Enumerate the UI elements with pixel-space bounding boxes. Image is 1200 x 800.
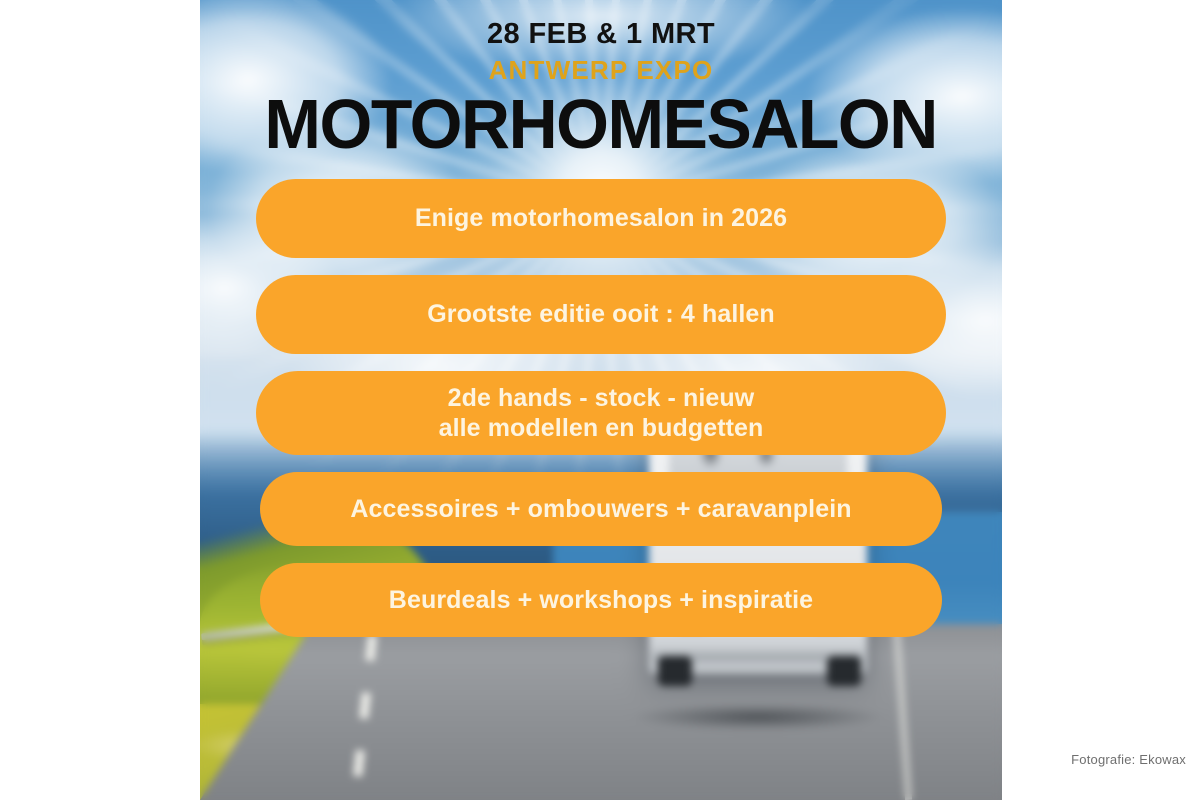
- feature-pill-line1: 2de hands - stock - nieuw: [448, 383, 755, 414]
- event-venue: ANTWERP EXPO: [489, 57, 714, 83]
- photographer-credit: Fotografie: Ekowax: [1071, 752, 1186, 767]
- feature-pill: Enige motorhomesalon in 2026: [256, 179, 946, 258]
- poster-content: 28 FEB & 1 MRT ANTWERP EXPO MOTORHOMESAL…: [200, 0, 1002, 800]
- event-date: 28 FEB & 1 MRT: [487, 20, 715, 49]
- feature-pill-line1: Accessoires + ombouwers + caravanplein: [350, 494, 851, 525]
- feature-pill: Beurdeals + workshops + inspiratie: [260, 563, 942, 637]
- feature-pill-list: Enige motorhomesalon in 2026 Grootste ed…: [200, 179, 1002, 637]
- promo-poster-image: 28 FEB & 1 MRT ANTWERP EXPO MOTORHOMESAL…: [200, 0, 1002, 800]
- feature-pill: Grootste editie ooit : 4 hallen: [256, 275, 946, 354]
- feature-pill-line1: Beurdeals + workshops + inspiratie: [389, 585, 813, 616]
- feature-pill-line2: alle modellen en budgetten: [439, 413, 764, 444]
- feature-pill-line1: Grootste editie ooit : 4 hallen: [427, 299, 775, 330]
- feature-pill-line1: Enige motorhomesalon in 2026: [415, 203, 787, 234]
- event-title: MOTORHOMESALON: [265, 87, 937, 161]
- feature-pill: Accessoires + ombouwers + caravanplein: [260, 472, 942, 546]
- page-canvas: 28 FEB & 1 MRT ANTWERP EXPO MOTORHOMESAL…: [0, 0, 1200, 800]
- feature-pill: 2de hands - stock - nieuw alle modellen …: [256, 371, 946, 455]
